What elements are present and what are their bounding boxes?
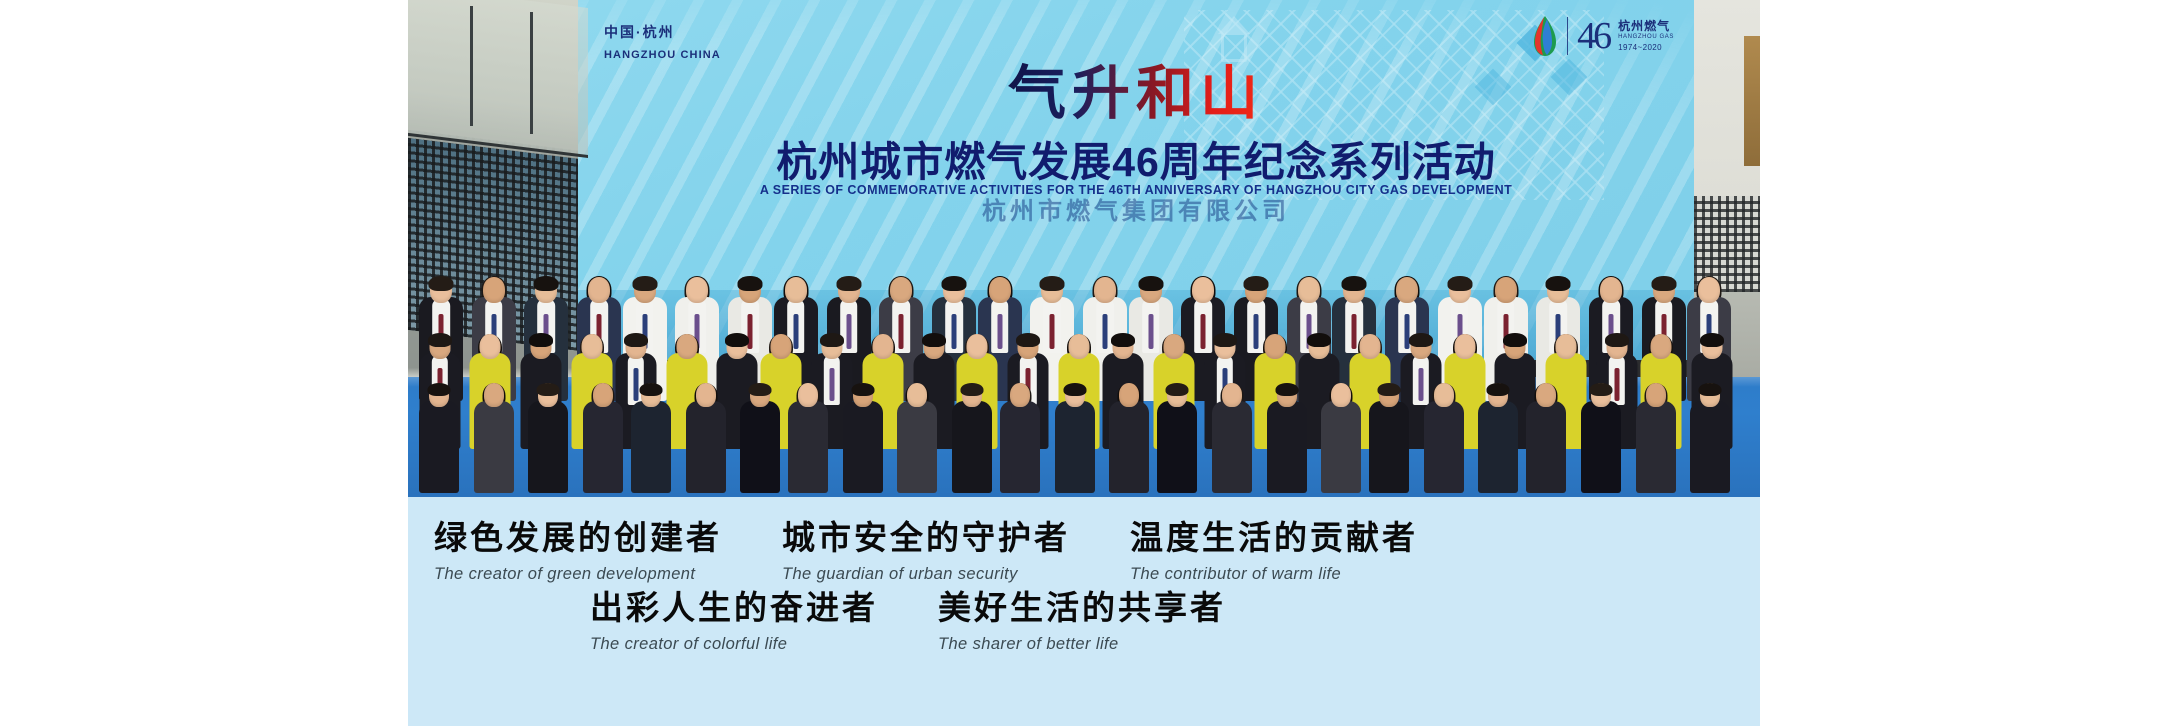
person-head xyxy=(907,383,927,407)
crowd-person xyxy=(843,225,883,493)
group-photo: 中国·杭州 HANGZHOU CHINA 46 杭州燃气 HANGZHOU GA… xyxy=(408,0,1760,497)
person-hair xyxy=(428,383,451,396)
crowd-person xyxy=(583,225,623,493)
person-head xyxy=(1536,383,1556,407)
brand-name-cn: 杭州燃气 xyxy=(1618,19,1674,34)
railing-post xyxy=(530,12,533,134)
crowd-person xyxy=(1109,225,1149,493)
crowd-person xyxy=(1581,225,1621,493)
person-tie xyxy=(830,368,835,401)
person-hair xyxy=(851,383,874,396)
railing-post xyxy=(470,6,473,126)
person-torso xyxy=(740,401,780,493)
slogan-item: 城市安全的守护者 The guardian of urban security xyxy=(782,519,1130,584)
crowd-person xyxy=(1478,225,1518,493)
person-torso xyxy=(1321,401,1361,493)
person-head xyxy=(1010,383,1030,407)
person-head xyxy=(798,383,818,407)
crowd-person xyxy=(419,225,459,493)
slogan-item: 绿色发展的创建者 The creator of green developmen… xyxy=(434,519,782,584)
anniversary-logo: 46 杭州燃气 HANGZHOU GAS 1974~2020 xyxy=(1532,16,1674,56)
crowd-person xyxy=(1212,225,1252,493)
person-head xyxy=(593,383,613,407)
content-column: 中国·杭州 HANGZHOU CHINA 46 杭州燃气 HANGZHOU GA… xyxy=(408,0,1760,726)
crowd-person xyxy=(1690,225,1730,493)
slogan-row-2: 出彩人生的奋进者 The creator of colorful life 美好… xyxy=(408,589,1760,654)
person-torso xyxy=(419,401,459,493)
crowd-person xyxy=(1000,225,1040,493)
brand-name-en: HANGZHOU GAS xyxy=(1618,34,1674,42)
crowd-person xyxy=(528,225,568,493)
person-head xyxy=(1331,383,1351,407)
crowd-person xyxy=(952,225,992,493)
slogan-cn: 出彩人生的奋进者 xyxy=(590,589,938,628)
person-torso xyxy=(1212,401,1252,493)
person-hair xyxy=(1487,383,1510,396)
calligraphy-title: 气升和山 xyxy=(1008,46,1264,130)
flame-icon xyxy=(1532,16,1558,56)
person-head xyxy=(1222,383,1242,407)
person-torso xyxy=(1581,401,1621,493)
person-torso xyxy=(528,401,568,493)
crowd-person xyxy=(788,225,828,493)
person-torso xyxy=(1636,401,1676,493)
person-torso xyxy=(1267,401,1307,493)
location-label-en: HANGZHOU CHINA xyxy=(604,47,721,64)
slogan-en: The sharer of better life xyxy=(938,635,1286,654)
person-hair xyxy=(639,383,662,396)
person-torso xyxy=(1478,401,1518,493)
crowd-person xyxy=(1369,225,1409,493)
person-head xyxy=(1119,383,1139,407)
person-hair xyxy=(961,383,984,396)
slogan-cn: 美好生活的共享者 xyxy=(938,589,1286,628)
person-hair xyxy=(1589,383,1612,396)
person-hair xyxy=(1166,383,1189,396)
person-head xyxy=(696,383,716,407)
slogan-item: 美好生活的共享者 The sharer of better life xyxy=(938,589,1286,654)
person-tie xyxy=(1418,368,1423,401)
person-head xyxy=(1434,383,1454,407)
slogan-en: The creator of green development xyxy=(434,565,782,584)
person-hair xyxy=(1275,383,1298,396)
crowd-person xyxy=(1526,225,1566,493)
person-torso xyxy=(1526,401,1566,493)
slogan-en: The guardian of urban security xyxy=(782,565,1130,584)
person-torso xyxy=(1157,401,1197,493)
person-hair xyxy=(749,383,772,396)
person-hair xyxy=(1699,383,1722,396)
person-hair xyxy=(537,383,560,396)
person-torso xyxy=(686,401,726,493)
slogan-cn: 温度生活的贡献者 xyxy=(1130,519,1478,558)
person-torso xyxy=(1424,401,1464,493)
person-torso xyxy=(952,401,992,493)
slogan-item: 温度生活的贡献者 The contributor of warm life xyxy=(1130,519,1478,584)
crowd-person xyxy=(686,225,726,493)
crowd-person xyxy=(474,225,514,493)
crowd-person xyxy=(740,225,780,493)
slogan-cn: 绿色发展的创建者 xyxy=(434,519,782,558)
slogan-en: The contributor of warm life xyxy=(1130,565,1478,584)
person-head xyxy=(1646,383,1666,407)
anniversary-number: 46 xyxy=(1577,17,1609,55)
brand-years: 1974~2020 xyxy=(1618,43,1674,53)
person-torso xyxy=(583,401,623,493)
person-head xyxy=(484,383,504,407)
glass-railing xyxy=(408,0,588,158)
crowd-person xyxy=(1424,225,1464,493)
person-torso xyxy=(1369,401,1409,493)
person-torso xyxy=(788,401,828,493)
slogan-panel: 绿色发展的创建者 The creator of green developmen… xyxy=(408,497,1760,726)
person-torso xyxy=(474,401,514,493)
person-torso xyxy=(897,401,937,493)
person-hair xyxy=(1377,383,1400,396)
crowd-person xyxy=(1055,225,1095,493)
person-torso xyxy=(1690,401,1730,493)
logo-divider xyxy=(1567,17,1568,55)
crowd-person xyxy=(1157,225,1197,493)
person-torso xyxy=(843,401,883,493)
crowd-group xyxy=(408,167,1760,497)
slogan-cn: 城市安全的守护者 xyxy=(782,519,1130,558)
slogan-row-1: 绿色发展的创建者 The creator of green developmen… xyxy=(408,519,1760,584)
person-torso xyxy=(1000,401,1040,493)
crowd-person xyxy=(1636,225,1676,493)
person-torso xyxy=(1055,401,1095,493)
crowd-person xyxy=(1321,225,1361,493)
location-label: 中国·杭州 HANGZHOU CHINA xyxy=(604,22,721,64)
person-hair xyxy=(1063,383,1086,396)
person-torso xyxy=(1109,401,1149,493)
crowd-person xyxy=(897,225,937,493)
brand-text: 杭州燃气 HANGZHOU GAS 1974~2020 xyxy=(1618,19,1674,53)
crowd-person xyxy=(631,225,671,493)
slogan-item: 出彩人生的奋进者 The creator of colorful life xyxy=(590,589,938,654)
slogan-en: The creator of colorful life xyxy=(590,635,938,654)
page-root: 中国·杭州 HANGZHOU CHINA 46 杭州燃气 HANGZHOU GA… xyxy=(0,0,2179,726)
location-label-cn: 中国·杭州 xyxy=(604,22,721,43)
person-torso xyxy=(631,401,671,493)
door-panel xyxy=(1744,36,1760,166)
crowd-person xyxy=(1267,225,1307,493)
